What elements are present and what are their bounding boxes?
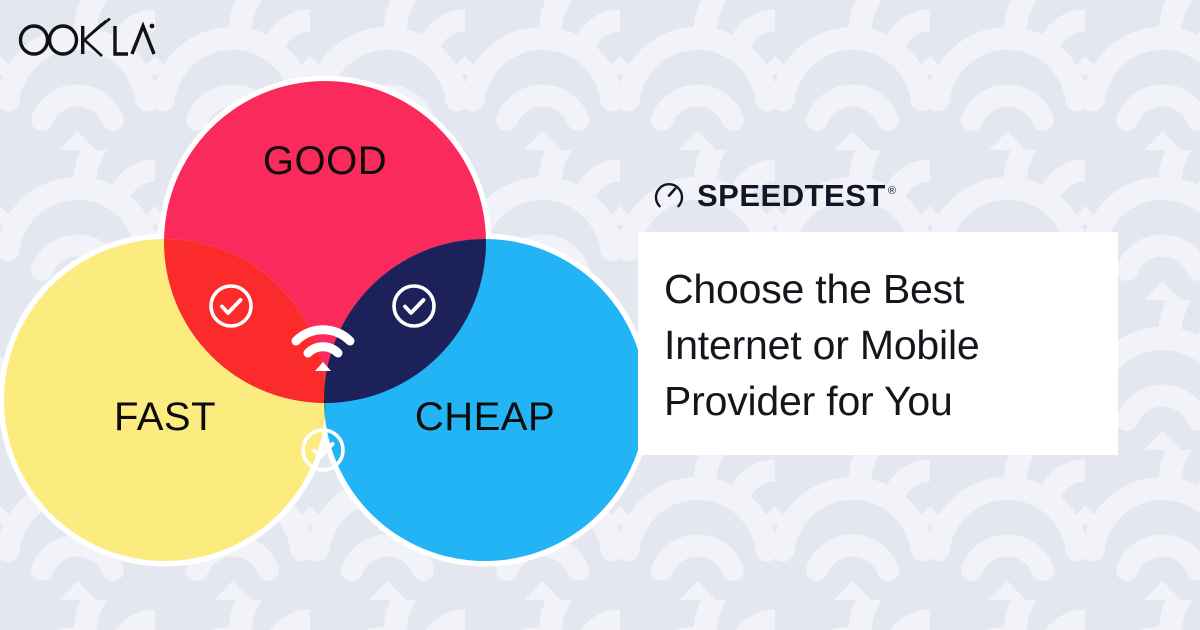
ookla-logo (16, 18, 156, 62)
promo-graphic: GOOD FAST CHEAP (0, 0, 1200, 630)
venn-diagram: GOOD FAST CHEAP (0, 60, 660, 580)
headline-line-2: Internet or Mobile (664, 318, 1092, 374)
headline-line-1: Choose the Best (664, 262, 1092, 318)
venn-label-cheap: CHEAP (415, 395, 555, 439)
right-content-column: SPEEDTEST® Choose the Best Internet or M… (638, 172, 1128, 455)
headline-line-3: Provider for You (664, 374, 1092, 430)
speedtest-wordmark: SPEEDTEST® (697, 180, 896, 211)
headline-card: Choose the Best Internet or Mobile Provi… (638, 232, 1118, 455)
speedtest-logo: SPEEDTEST® (638, 172, 1128, 218)
page-title: Choose the Best Internet or Mobile Provi… (664, 262, 1092, 429)
venn-label-fast: FAST (114, 395, 216, 439)
venn-label-good: GOOD (263, 139, 387, 183)
speedometer-icon (652, 178, 686, 212)
registered-mark: ® (888, 185, 897, 197)
speedtest-wordmark-text: SPEEDTEST (697, 178, 886, 213)
